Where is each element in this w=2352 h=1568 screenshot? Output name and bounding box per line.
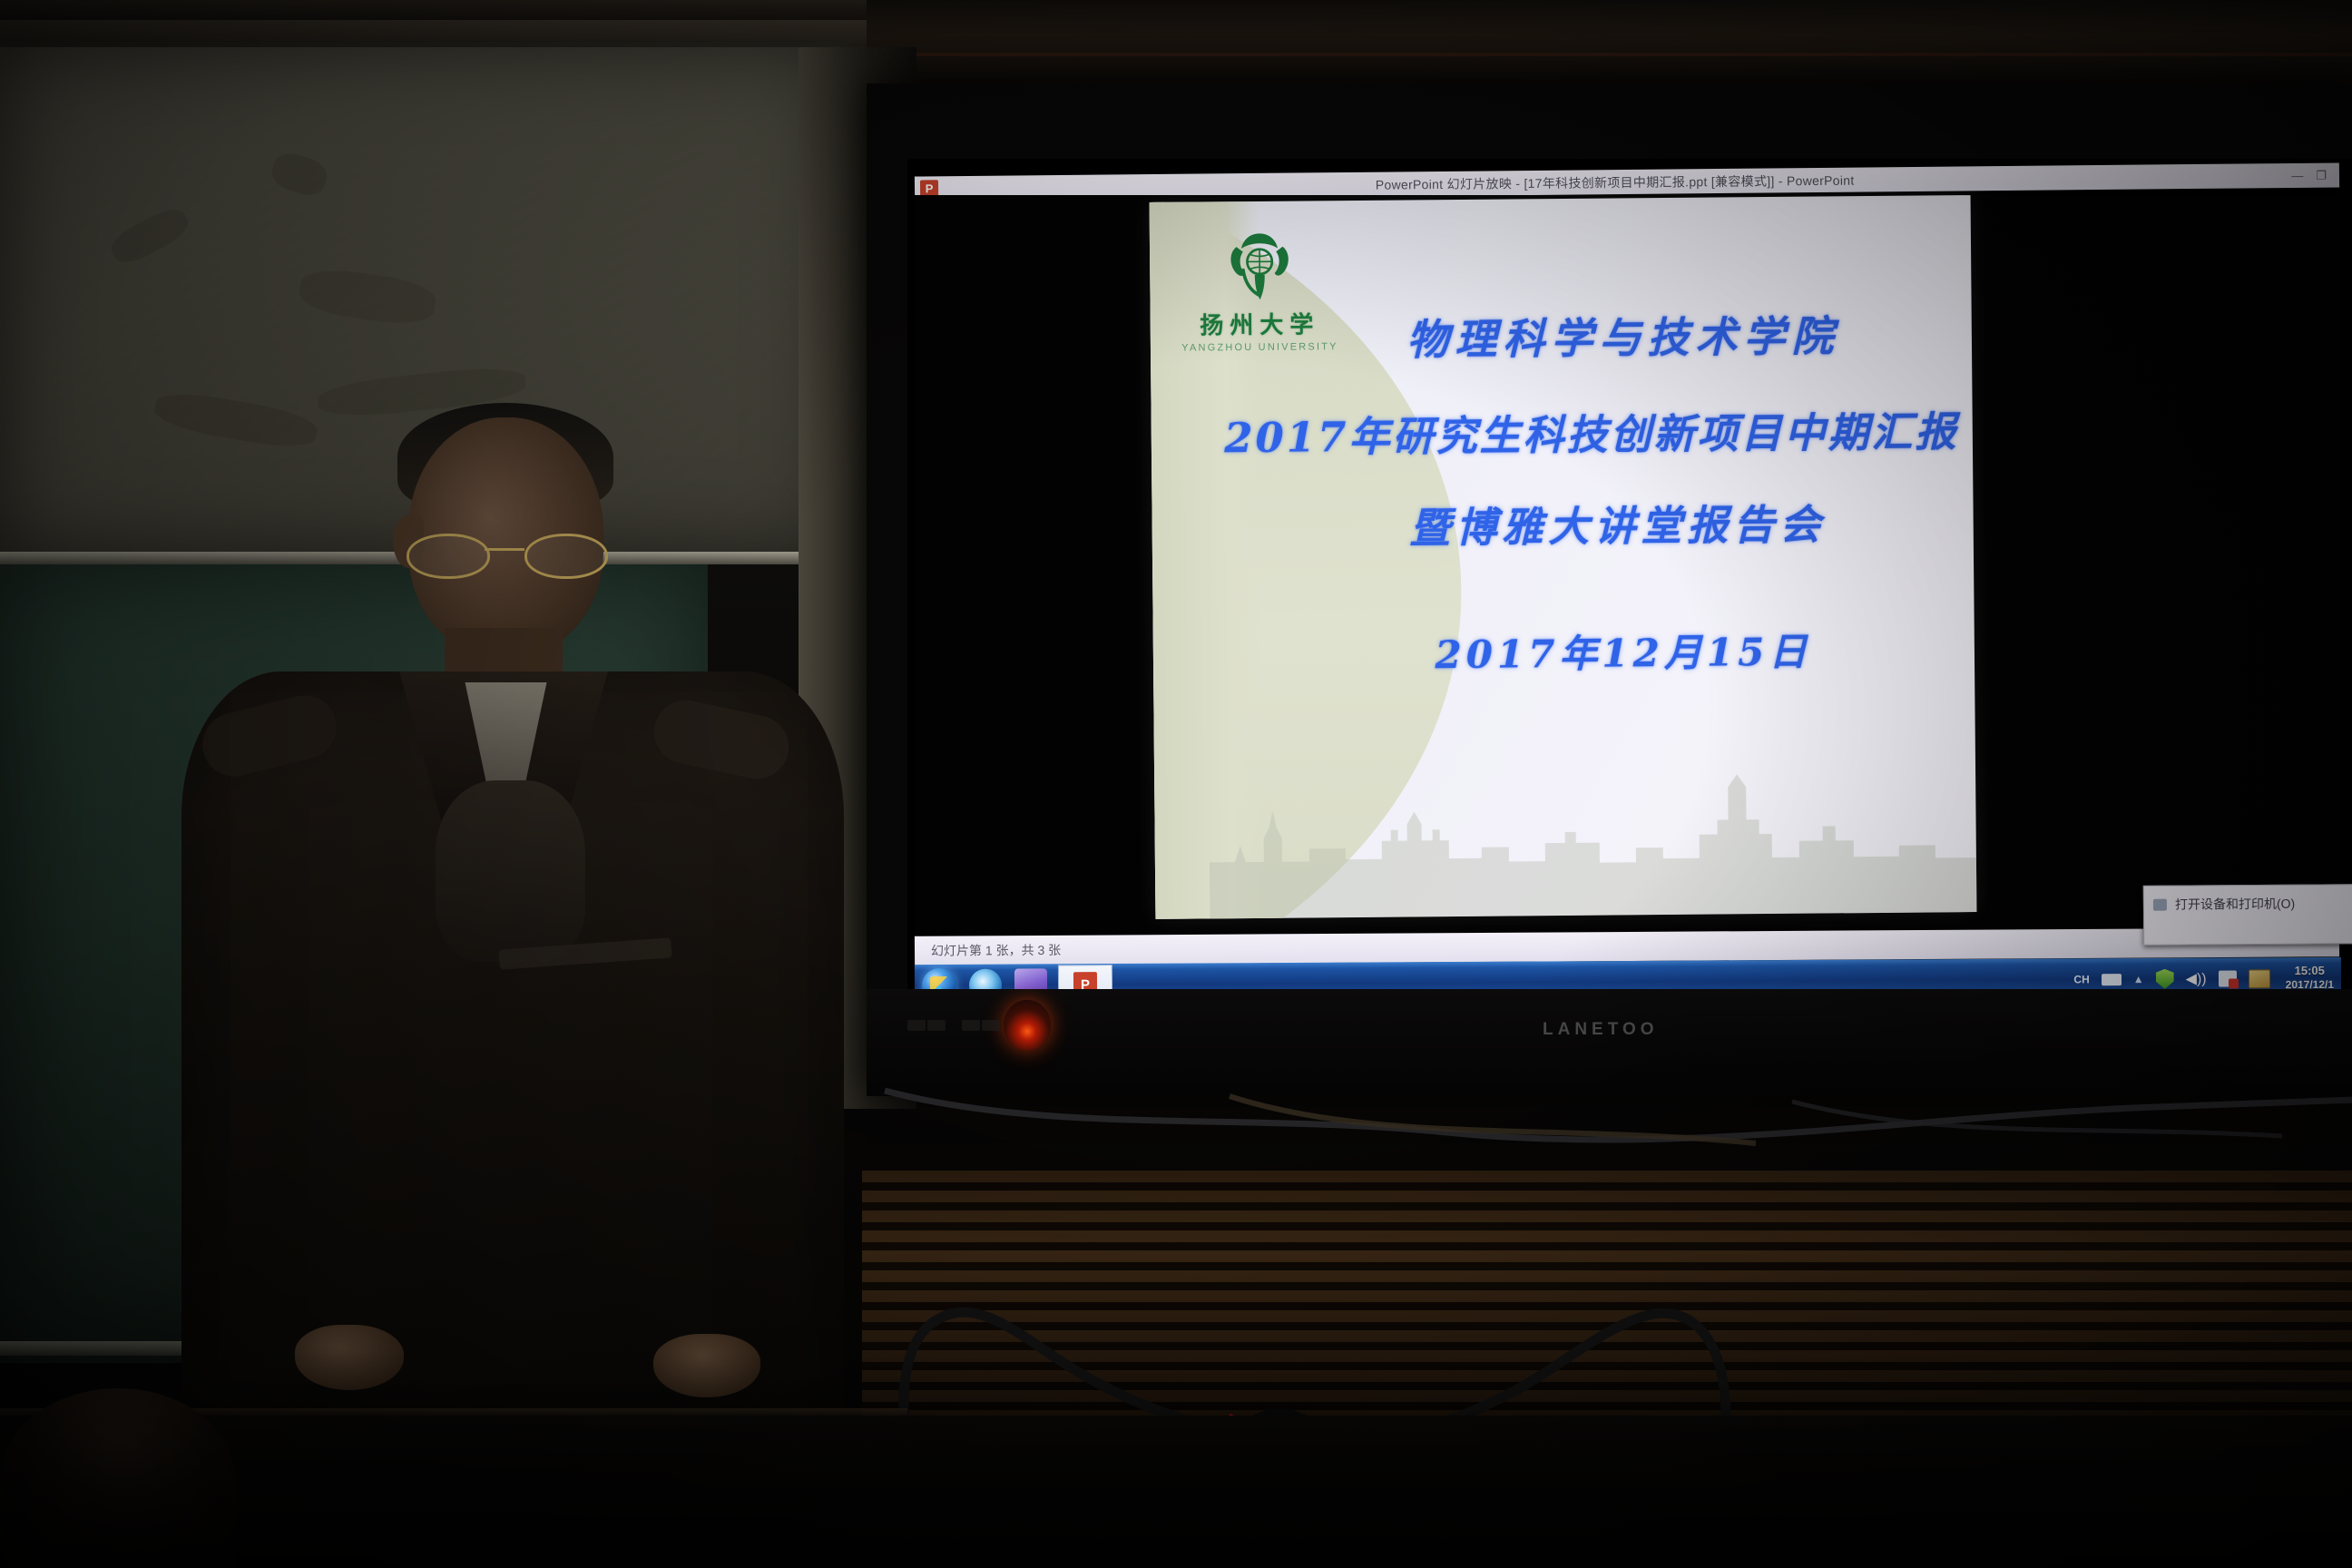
power-button-led[interactable] <box>1004 1000 1051 1051</box>
monitor-cables <box>867 1080 2352 1189</box>
source-button[interactable] <box>982 1020 1000 1031</box>
clock-time: 15:05 <box>2295 964 2325 977</box>
slide-title-block: 物理科学与技术学院 2017年研究生科技创新项目中期汇报 暨博雅大讲堂报告会 2… <box>1246 302 1966 681</box>
context-menu-item-label: 打开设备和打印机(O) <box>2175 895 2295 914</box>
monitor-brand-label: LANETOO <box>1543 1020 1659 1040</box>
devices-printers-context-menu[interactable]: 打开设备和打印机(O) <box>2143 884 2352 946</box>
keyboard-icon[interactable] <box>2102 974 2122 985</box>
down-button[interactable] <box>962 1020 980 1031</box>
glasses-lens-left <box>407 534 490 579</box>
eyeglasses <box>403 534 610 575</box>
restore-button[interactable]: ❐ <box>2316 168 2327 182</box>
slide-title-line-3: 暨博雅大讲堂报告会 <box>1270 490 1965 555</box>
network-icon[interactable] <box>2219 970 2237 986</box>
city-skyline-silhouette <box>1209 749 1977 918</box>
minimize-button[interactable]: — <box>2291 169 2303 182</box>
slide-date: 2017年12月15日 <box>1281 620 1966 681</box>
front-desk <box>0 1416 2352 1568</box>
wall-trim-line <box>871 53 2352 56</box>
screenshot-root: P PowerPoint 幻灯片放映 - [17年科技创新项目中期汇报.ppt … <box>0 0 2352 1568</box>
audience-head-silhouette <box>0 1388 236 1568</box>
window-controls[interactable]: — ❐ <box>2291 168 2327 182</box>
yangzhou-university-logo-icon <box>1217 229 1301 304</box>
printer-icon <box>2153 898 2167 910</box>
context-menu-item[interactable]: 打开设备和打印机(O) <box>2144 885 2352 914</box>
presentation-slide: 扬州大学 YANGZHOU UNIVERSITY 物理科学与技术学院 2017年… <box>1150 195 1977 919</box>
taskbar-clock[interactable]: 15:05 2017/12/1 <box>2286 965 2335 991</box>
up-button[interactable] <box>907 1020 926 1031</box>
slide-counter-text: 幻灯片第 1 张，共 3 张 <box>931 941 1061 960</box>
presenter-hand-left <box>295 1325 404 1390</box>
slide-title-line-1: 物理科学与技术学院 <box>1284 302 1964 368</box>
slide-show-area[interactable]: 扬州大学 YANGZHOU UNIVERSITY 物理科学与技术学院 2017年… <box>915 195 2339 935</box>
input-method-indicator[interactable]: CH <box>2073 973 2089 985</box>
presenter-hand-right <box>653 1334 760 1397</box>
menu-button[interactable] <box>927 1020 946 1031</box>
update-icon[interactable] <box>2249 969 2270 988</box>
glasses-bridge <box>485 548 524 551</box>
presenter-person <box>136 399 898 1452</box>
glasses-lens-right <box>524 534 608 579</box>
window-title: PowerPoint 幻灯片放映 - [17年科技创新项目中期汇报.ppt [兼… <box>938 166 2291 197</box>
slide-title-line-2: 2017年研究生科技创新项目中期汇报 <box>1220 398 1965 464</box>
tray-overflow-icon[interactable]: ▲ <box>2133 973 2144 985</box>
shield-icon[interactable] <box>2156 969 2174 989</box>
monitor-screen: P PowerPoint 幻灯片放映 - [17年科技创新项目中期汇报.ppt … <box>907 159 2352 1003</box>
presenter-sweater <box>436 780 585 962</box>
volume-icon[interactable]: ◀)) <box>2186 970 2207 988</box>
